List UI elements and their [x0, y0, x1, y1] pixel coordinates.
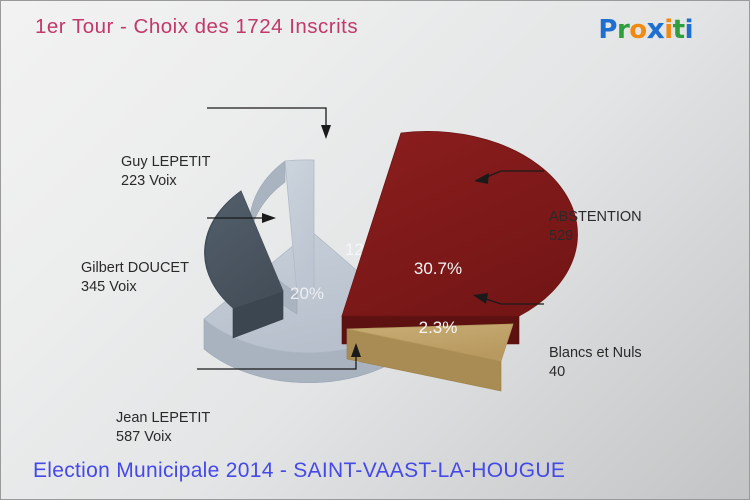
chart-page: 1er Tour - Choix des 1724 Inscrits Proxi…	[0, 0, 750, 500]
pie-slice-abstention-top	[342, 131, 578, 316]
callout-guy-lepetit-name: Guy LEPETIT	[121, 153, 210, 172]
callout-gilbert-doucet-name: Gilbert DOUCET	[81, 259, 189, 278]
page-title: 1er Tour - Choix des 1724 Inscrits	[35, 15, 358, 39]
logo-letter-x: x	[647, 12, 665, 45]
callout-jean-lepetit: Jean LEPETIT 587 Voix	[116, 409, 210, 446]
pie-slice-blancs-et-nuls-percent: 2.3%	[419, 318, 458, 337]
callout-jean-lepetit-name: Jean LEPETIT	[116, 409, 210, 428]
callout-abstention-votes: 529	[549, 227, 642, 246]
leader-line-guy	[207, 108, 326, 129]
callout-gilbert-doucet: Gilbert DOUCET 345 Voix	[81, 259, 189, 296]
logo-letter-i2: i	[685, 15, 693, 45]
pie-slice-blancs-et-nuls[interactable]: 2.3%	[347, 318, 513, 391]
pie-slice-abstention[interactable]: 30.7%	[342, 131, 578, 344]
arrow-gilbert-icon	[262, 213, 276, 223]
callout-blancs-et-nuls: Blancs et Nuls 40	[549, 344, 642, 381]
callout-guy-lepetit: Guy LEPETIT 223 Voix	[121, 153, 210, 190]
logo-letter-i1: i	[664, 15, 672, 45]
callout-gilbert-doucet-votes: 345 Voix	[81, 278, 189, 297]
chart-subtitle: Election Municipale 2014 - SAINT-VAAST-L…	[33, 459, 565, 483]
pie-slice-gilbert-doucet-top	[206, 191, 283, 308]
callout-blancs-et-nuls-name: Blancs et Nuls	[549, 344, 642, 363]
callout-jean-lepetit-votes: 587 Voix	[116, 428, 210, 447]
proxiti-logo[interactable]: Proxiti	[598, 12, 693, 45]
callout-guy-lepetit-votes: 223 Voix	[121, 172, 210, 191]
logo-letter-t: t	[673, 15, 685, 45]
pie-chart: 34% 12.9% 20% 30.7%	[1, 61, 750, 451]
pie-slice-abstention-percent: 30.7%	[414, 259, 462, 278]
pie-chart-svg: 34% 12.9% 20% 30.7%	[1, 61, 750, 451]
logo-letter-p: P	[598, 15, 617, 45]
logo-letter-r: r	[617, 15, 629, 45]
pie-slice-gilbert-doucet-percent: 20%	[290, 284, 324, 303]
callout-abstention-name: ABSTENTION	[549, 208, 642, 227]
logo-letter-o: o	[629, 15, 646, 45]
callout-blancs-et-nuls-votes: 40	[549, 363, 642, 382]
arrow-guy-icon	[321, 125, 331, 139]
callout-abstention: ABSTENTION 529	[549, 208, 642, 245]
